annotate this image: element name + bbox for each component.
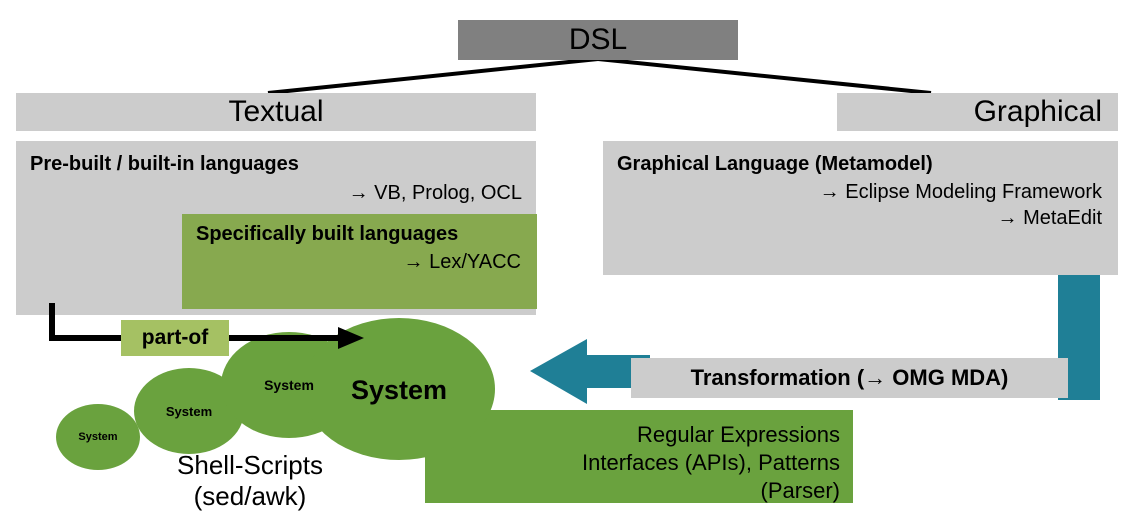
artifacts-text: Regular Expressions Interfaces (APIs), P… xyxy=(455,421,840,505)
diagram-canvas: DSL Textual Graphical Pre-built / built-… xyxy=(0,0,1134,513)
artifacts-line-1: Regular Expressions xyxy=(455,421,840,449)
node-transformation[interactable]: Transformation (→ OMG MDA) xyxy=(631,358,1068,398)
artifacts-line-3: (Parser) xyxy=(455,477,840,505)
node-transformation-label: Transformation (→ OMG MDA) xyxy=(691,365,1009,391)
artifacts-line-2: Interfaces (APIs), Patterns xyxy=(455,449,840,477)
